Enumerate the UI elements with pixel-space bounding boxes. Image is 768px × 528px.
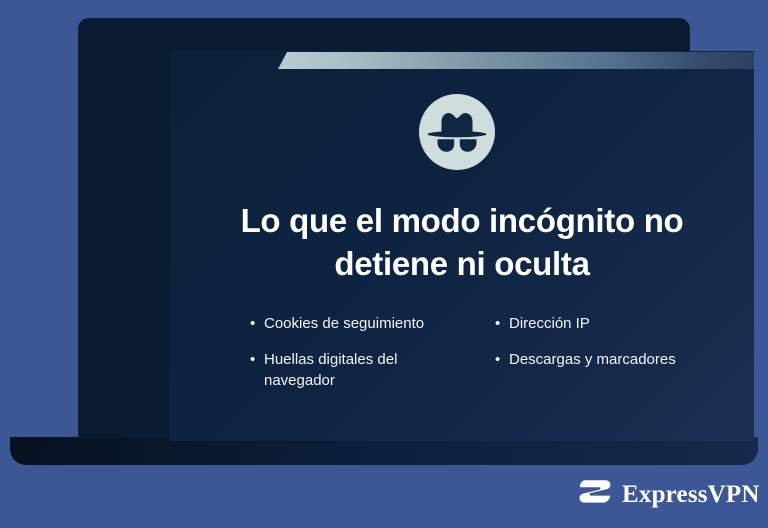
expressvpn-brand-lockup: ExpressVPN: [578, 477, 760, 511]
laptop-screen: Lo que el modo incógnito no detiene ni o…: [170, 51, 754, 441]
list-item: • Cookies de seguimiento: [250, 313, 445, 334]
bullet-marker-icon: •: [250, 349, 255, 370]
bullet-list: • Cookies de seguimiento • Huellas digit…: [250, 313, 690, 406]
list-item-label: Huellas digitales del navegador: [264, 351, 397, 389]
expressvpn-wordmark: ExpressVPN: [622, 482, 760, 507]
laptop-base: [10, 437, 758, 465]
list-item-label: Dirección IP: [509, 315, 590, 332]
screen-accent-strip: [278, 52, 754, 69]
expressvpn-logo-mark-icon: [578, 477, 612, 512]
list-item: • Huellas digitales del navegador: [250, 349, 445, 391]
slide-title: Lo que el modo incógnito no detiene ni o…: [194, 199, 730, 285]
bullet-column-right: • Dirección IP • Descargas y marcadores: [495, 313, 690, 406]
list-item: • Descargas y marcadores: [495, 349, 690, 370]
list-item-label: Descargas y marcadores: [509, 351, 676, 368]
slide-canvas: Lo que el modo incógnito no detiene ni o…: [0, 0, 768, 528]
bullet-column-left: • Cookies de seguimiento • Huellas digit…: [250, 313, 445, 406]
bullet-marker-icon: •: [495, 313, 500, 334]
list-item-label: Cookies de seguimiento: [264, 315, 424, 332]
bullet-marker-icon: •: [250, 313, 255, 334]
bullet-marker-icon: •: [495, 349, 500, 370]
list-item: • Dirección IP: [495, 313, 690, 334]
incognito-hat-glasses-icon: [419, 94, 495, 170]
laptop-lid: Lo que el modo incógnito no detiene ni o…: [78, 18, 690, 438]
